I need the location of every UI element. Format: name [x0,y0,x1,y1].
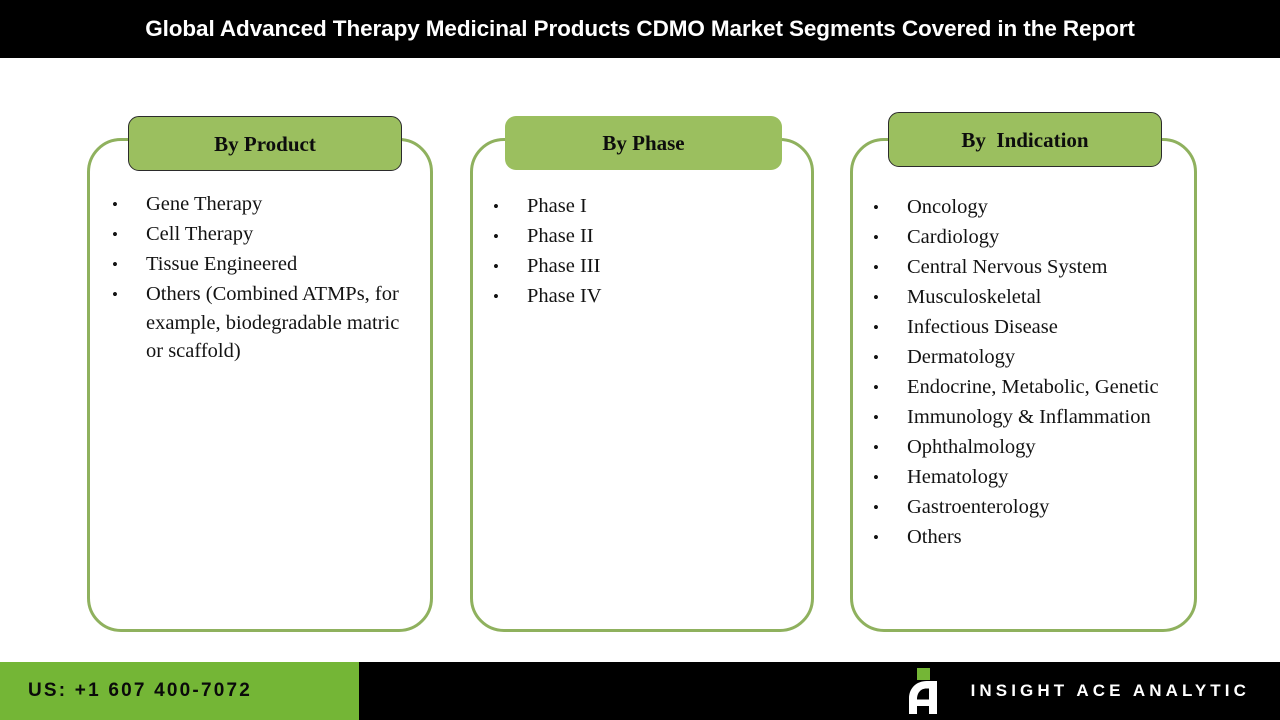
bullet-icon: • [112,250,146,279]
segment-list-indication: • Oncology • Cardiology • Central Nervou… [873,193,1183,553]
list-item-label: Cardiology [907,223,1183,252]
bullet-icon: • [493,282,527,311]
list-item-label: Immunology & Inflammation [907,403,1183,432]
segment-card-header-product: By Product [128,116,402,171]
bullet-icon: • [873,283,907,312]
bullet-icon: • [112,280,146,309]
brand-name: INSIGHT ACE ANALYTIC [971,681,1250,701]
page-title: Global Advanced Therapy Medicinal Produc… [45,16,1235,42]
segment-header-label: By Indication [961,129,1088,151]
list-item: • Infectious Disease [873,313,1183,342]
list-item: • Cell Therapy [112,220,412,249]
bullet-icon: • [873,493,907,522]
list-item: • Oncology [873,193,1183,222]
list-item: • Gene Therapy [112,190,412,219]
list-item-label: Others [907,523,1183,552]
list-item-label: Musculoskeletal [907,283,1183,312]
bullet-icon: • [493,192,527,221]
segment-header-label: By Phase [602,132,684,154]
list-item-label: Gastroenterology [907,493,1183,522]
list-item-label: Phase IV [527,282,793,311]
segment-list-product: • Gene Therapy • Cell Therapy • Tissue E… [112,190,412,367]
list-item-label: Dermatology [907,343,1183,372]
bullet-icon: • [873,433,907,462]
logo-green-square-icon [917,668,930,680]
bullet-icon: • [873,313,907,342]
title-bar: Global Advanced Therapy Medicinal Produc… [0,0,1280,58]
bullet-icon: • [873,343,907,372]
list-item: • Tissue Engineered [112,250,412,279]
list-item: • Musculoskeletal [873,283,1183,312]
bullet-icon: • [873,223,907,252]
segment-list-phase: • Phase I • Phase II • Phase III • Phase… [493,192,793,312]
list-item-label: Cell Therapy [146,220,412,249]
bullet-icon: • [873,523,907,552]
list-item-label: Phase III [527,252,793,281]
list-item-label: Phase I [527,192,793,221]
insight-ace-a-mark-icon [905,668,949,714]
bullet-icon: • [112,220,146,249]
list-item: • Central Nervous System [873,253,1183,282]
footer-brand: INSIGHT ACE ANALYTIC [905,662,1250,720]
segment-card-header-phase: By Phase [505,116,782,170]
segment-header-label: By Product [214,133,316,155]
list-item: • Phase IV [493,282,793,311]
list-item-label: Infectious Disease [907,313,1183,342]
list-item-label: Gene Therapy [146,190,412,219]
list-item: • Cardiology [873,223,1183,252]
bullet-icon: • [493,222,527,251]
list-item-label: Tissue Engineered [146,250,412,279]
bullet-icon: • [873,403,907,432]
bullet-icon: • [873,253,907,282]
list-item-label: Hematology [907,463,1183,492]
bullet-icon: • [493,252,527,281]
list-item-label: Central Nervous System [907,253,1183,282]
bullet-icon: • [873,373,907,402]
list-item-label: Ophthalmology [907,433,1183,462]
list-item: • Dermatology [873,343,1183,372]
bullet-icon: • [873,193,907,222]
list-item: • Endocrine, Metabolic, Genetic [873,373,1183,402]
list-item: • Phase I [493,192,793,221]
list-item-label: Endocrine, Metabolic, Genetic [907,373,1183,402]
list-item: • Phase III [493,252,793,281]
slide-canvas: Global Advanced Therapy Medicinal Produc… [0,0,1280,720]
list-item-label: Others (Combined ATMPs, for example, bio… [146,280,412,366]
list-item: • Gastroenterology [873,493,1183,522]
footer-bar: US: +1 607 400-7072 INSIGHT ACE ANALYTIC [0,662,1280,720]
footer-phone-text: US: +1 607 400-7072 [28,680,252,702]
list-item: • Others [873,523,1183,552]
list-item: • Immunology & Inflammation [873,403,1183,432]
list-item: • Hematology [873,463,1183,492]
bullet-icon: • [873,463,907,492]
list-item-label: Phase II [527,222,793,251]
list-item: • Others (Combined ATMPs, for example, b… [112,280,412,366]
bullet-icon: • [112,190,146,219]
segment-card-header-indication: By Indication [888,112,1162,167]
footer-phone-block: US: +1 607 400-7072 [0,662,359,720]
list-item: • Ophthalmology [873,433,1183,462]
list-item: • Phase II [493,222,793,251]
list-item-label: Oncology [907,193,1183,222]
